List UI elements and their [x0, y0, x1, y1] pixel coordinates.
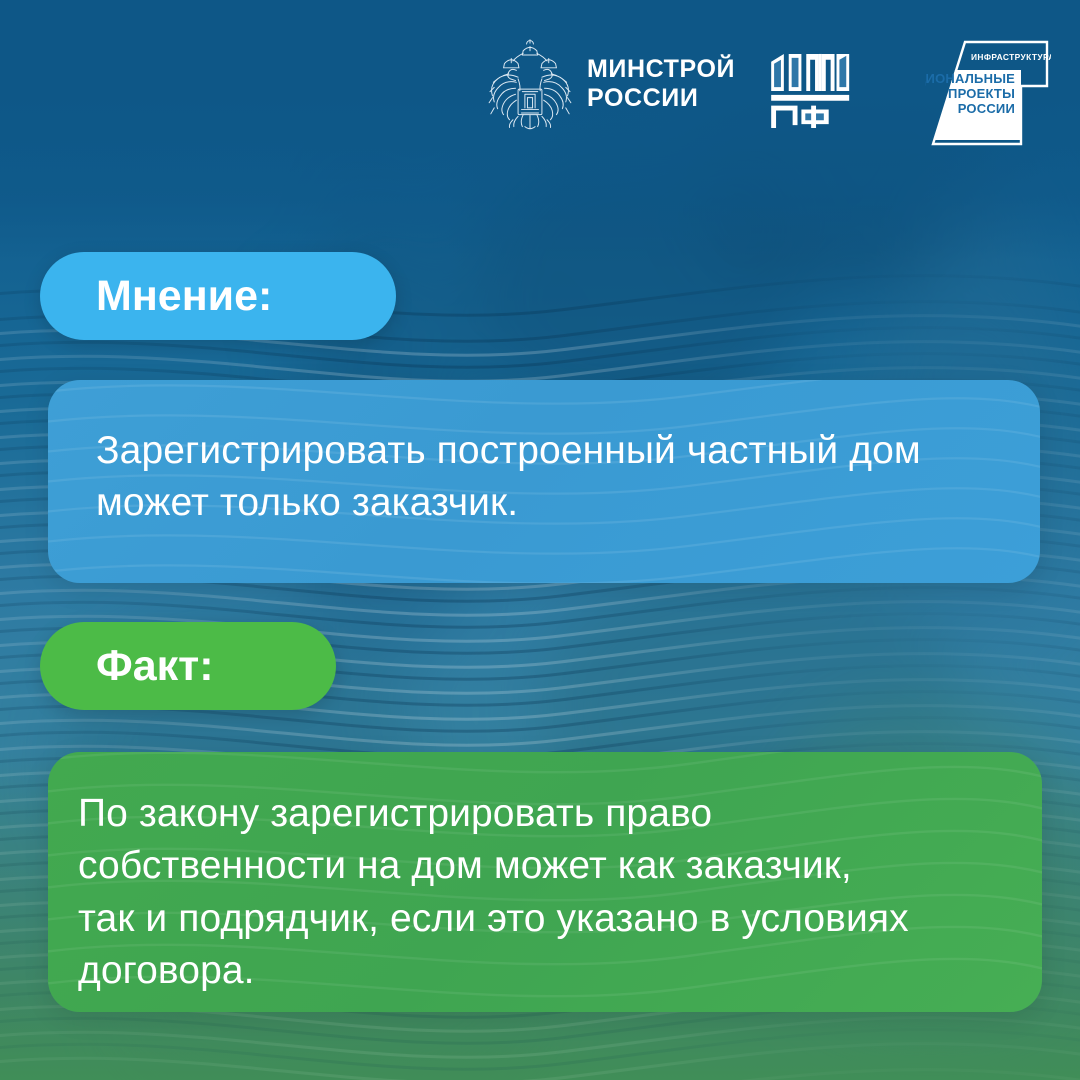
minstroy-line-1: МИНСТРОЙ	[587, 55, 735, 85]
opinion-text: Зарегистрировать построенный частный дом…	[48, 380, 1040, 530]
fact-label-pill: Факт:	[40, 622, 336, 710]
svg-text:ПРОЕКТЫ: ПРОЕКТЫ	[948, 86, 1015, 101]
np-kicker: ИНФРАСТРУКТУРА	[971, 52, 1051, 62]
opinion-card: Зарегистрировать построенный частный дом…	[48, 380, 1040, 583]
national-projects-flag-icon: ИНФРАСТРУКТУРА НАЦИОНАЛЬНЫЕ ПРОЕКТЫ РОСС…	[925, 36, 1051, 152]
svg-text:РОССИИ: РОССИИ	[958, 101, 1015, 116]
fact-card: По закону зарегистрировать право собстве…	[48, 752, 1042, 1012]
fact-label-text: Факт:	[96, 642, 214, 691]
minstroy-line-2: РОССИИ	[587, 84, 735, 114]
russian-double-headed-eagle-icon	[487, 38, 573, 130]
opinion-label-pill: Мнение:	[40, 252, 396, 340]
opinion-label-text: Мнение:	[96, 272, 272, 321]
svg-text:НАЦИОНАЛЬНЫЕ: НАЦИОНАЛЬНЫЕ	[925, 71, 1015, 86]
dom-rf-logo-icon	[768, 52, 866, 130]
minstroy-logo-text: МИНСТРОЙ РОССИИ	[587, 55, 735, 114]
infographic-canvas: МИНСТРОЙ РОССИИ	[0, 0, 1080, 1080]
fact-text: По закону зарегистрировать право собстве…	[48, 752, 1042, 997]
logo-header: МИНСТРОЙ РОССИИ	[0, 0, 1080, 175]
minstroy-logo: МИНСТРОЙ РОССИИ	[487, 38, 735, 130]
